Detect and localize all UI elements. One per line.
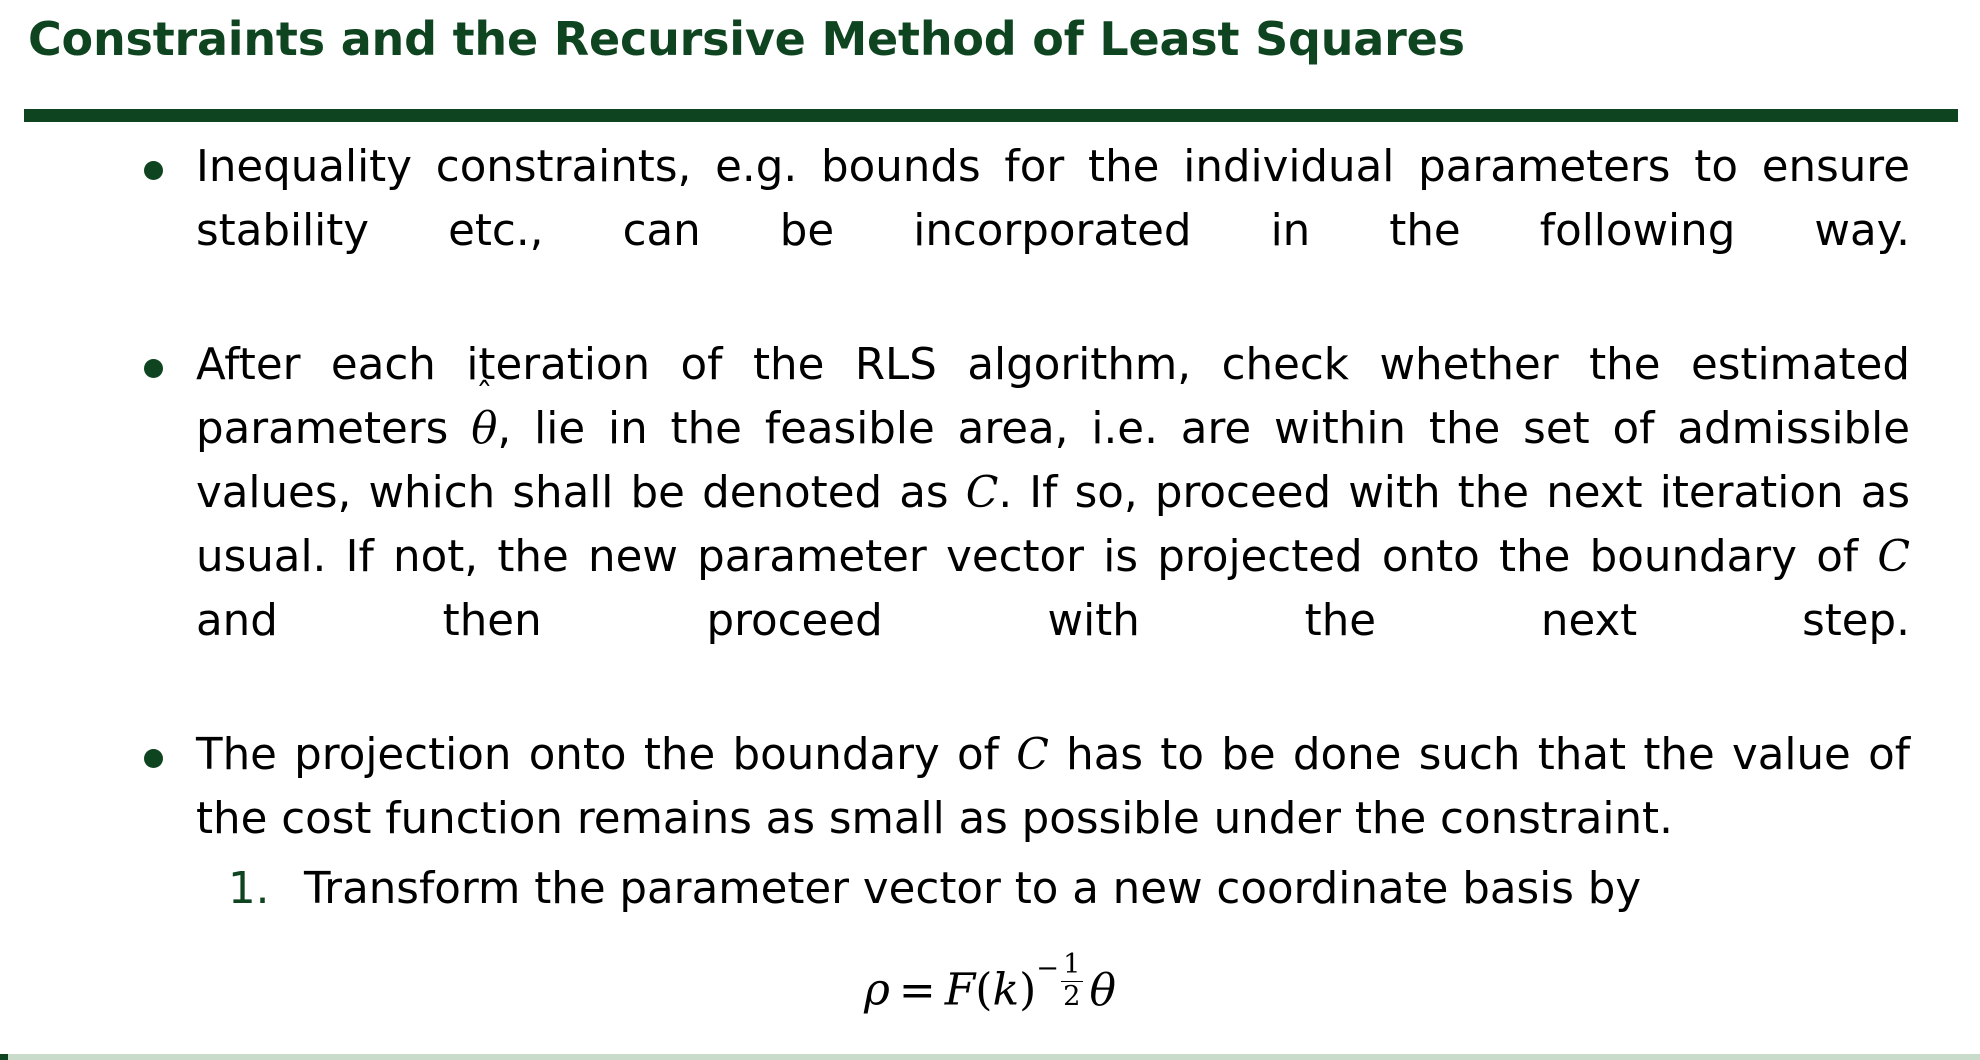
math-theta-hat: ˆθ [471, 397, 497, 461]
step-number: 1. [228, 857, 292, 921]
enumerated-step-list: 1. Transform the parameter vector to a n… [0, 857, 1980, 1060]
equation-exponent-sign: − [1036, 953, 1060, 984]
title-divider [24, 109, 1958, 122]
bullet-segment-text: The projection onto the boundary of [196, 730, 1016, 780]
math-calligraphic-c: C [1877, 532, 1910, 582]
slide-body: Inequality constraints, e.g. bounds for … [0, 135, 1980, 1060]
equation-rhs-variable: θ [1084, 965, 1117, 1016]
equation-close-paren: ) [1019, 965, 1036, 1016]
fraction-denominator: 2 [1061, 982, 1082, 1012]
bullet-text-inequality-constraints: Inequality constraints, e.g. bounds for … [196, 135, 1910, 327]
math-calligraphic-c: C [1016, 730, 1049, 780]
fraction-numerator: 1 [1061, 951, 1082, 982]
bullet-text-projection-cost: The projection onto the boundary of C ha… [196, 723, 1910, 851]
step-text-transform: Transform the parameter vector to a new … [304, 864, 1641, 914]
equation-function: F [945, 965, 976, 1016]
equation-rho-transform: ρ=F(k)−12θ [864, 951, 1116, 1016]
bullet-segment-text: and then proceed with the next step. [196, 596, 1910, 646]
equation-exponent: −12 [1036, 951, 1083, 1012]
list-item: The projection onto the boundary of C ha… [0, 723, 1980, 851]
bullet-dot-icon [144, 161, 163, 180]
footer-divider [0, 1054, 1980, 1060]
page-title: Constraints and the Recursive Method of … [28, 12, 1465, 66]
bullet-text-rls-iteration-check: After each iteration of the RLS algorith… [196, 333, 1910, 717]
slide: Constraints and the Recursive Method of … [0, 0, 1980, 1060]
bullet-dot-icon [144, 749, 163, 768]
equation-lhs: ρ [864, 965, 890, 1016]
equation-exponent-fraction: 12 [1060, 951, 1083, 1012]
equation-argument: k [992, 965, 1019, 1016]
math-calligraphic-c: C [966, 468, 999, 518]
list-item: After each iteration of the RLS algorith… [0, 333, 1980, 717]
equation-container: ρ=F(k)−12θ [0, 951, 1980, 1016]
bullet-dot-icon [144, 359, 163, 378]
footer-accent [0, 1054, 8, 1060]
list-item: 1. Transform the parameter vector to a n… [0, 857, 1980, 921]
equation-open-paren: ( [975, 965, 992, 1016]
list-item: Inequality constraints, e.g. bounds for … [0, 135, 1980, 327]
equation-relation: = [890, 965, 945, 1016]
slide-header: Constraints and the Recursive Method of … [0, 0, 1980, 122]
